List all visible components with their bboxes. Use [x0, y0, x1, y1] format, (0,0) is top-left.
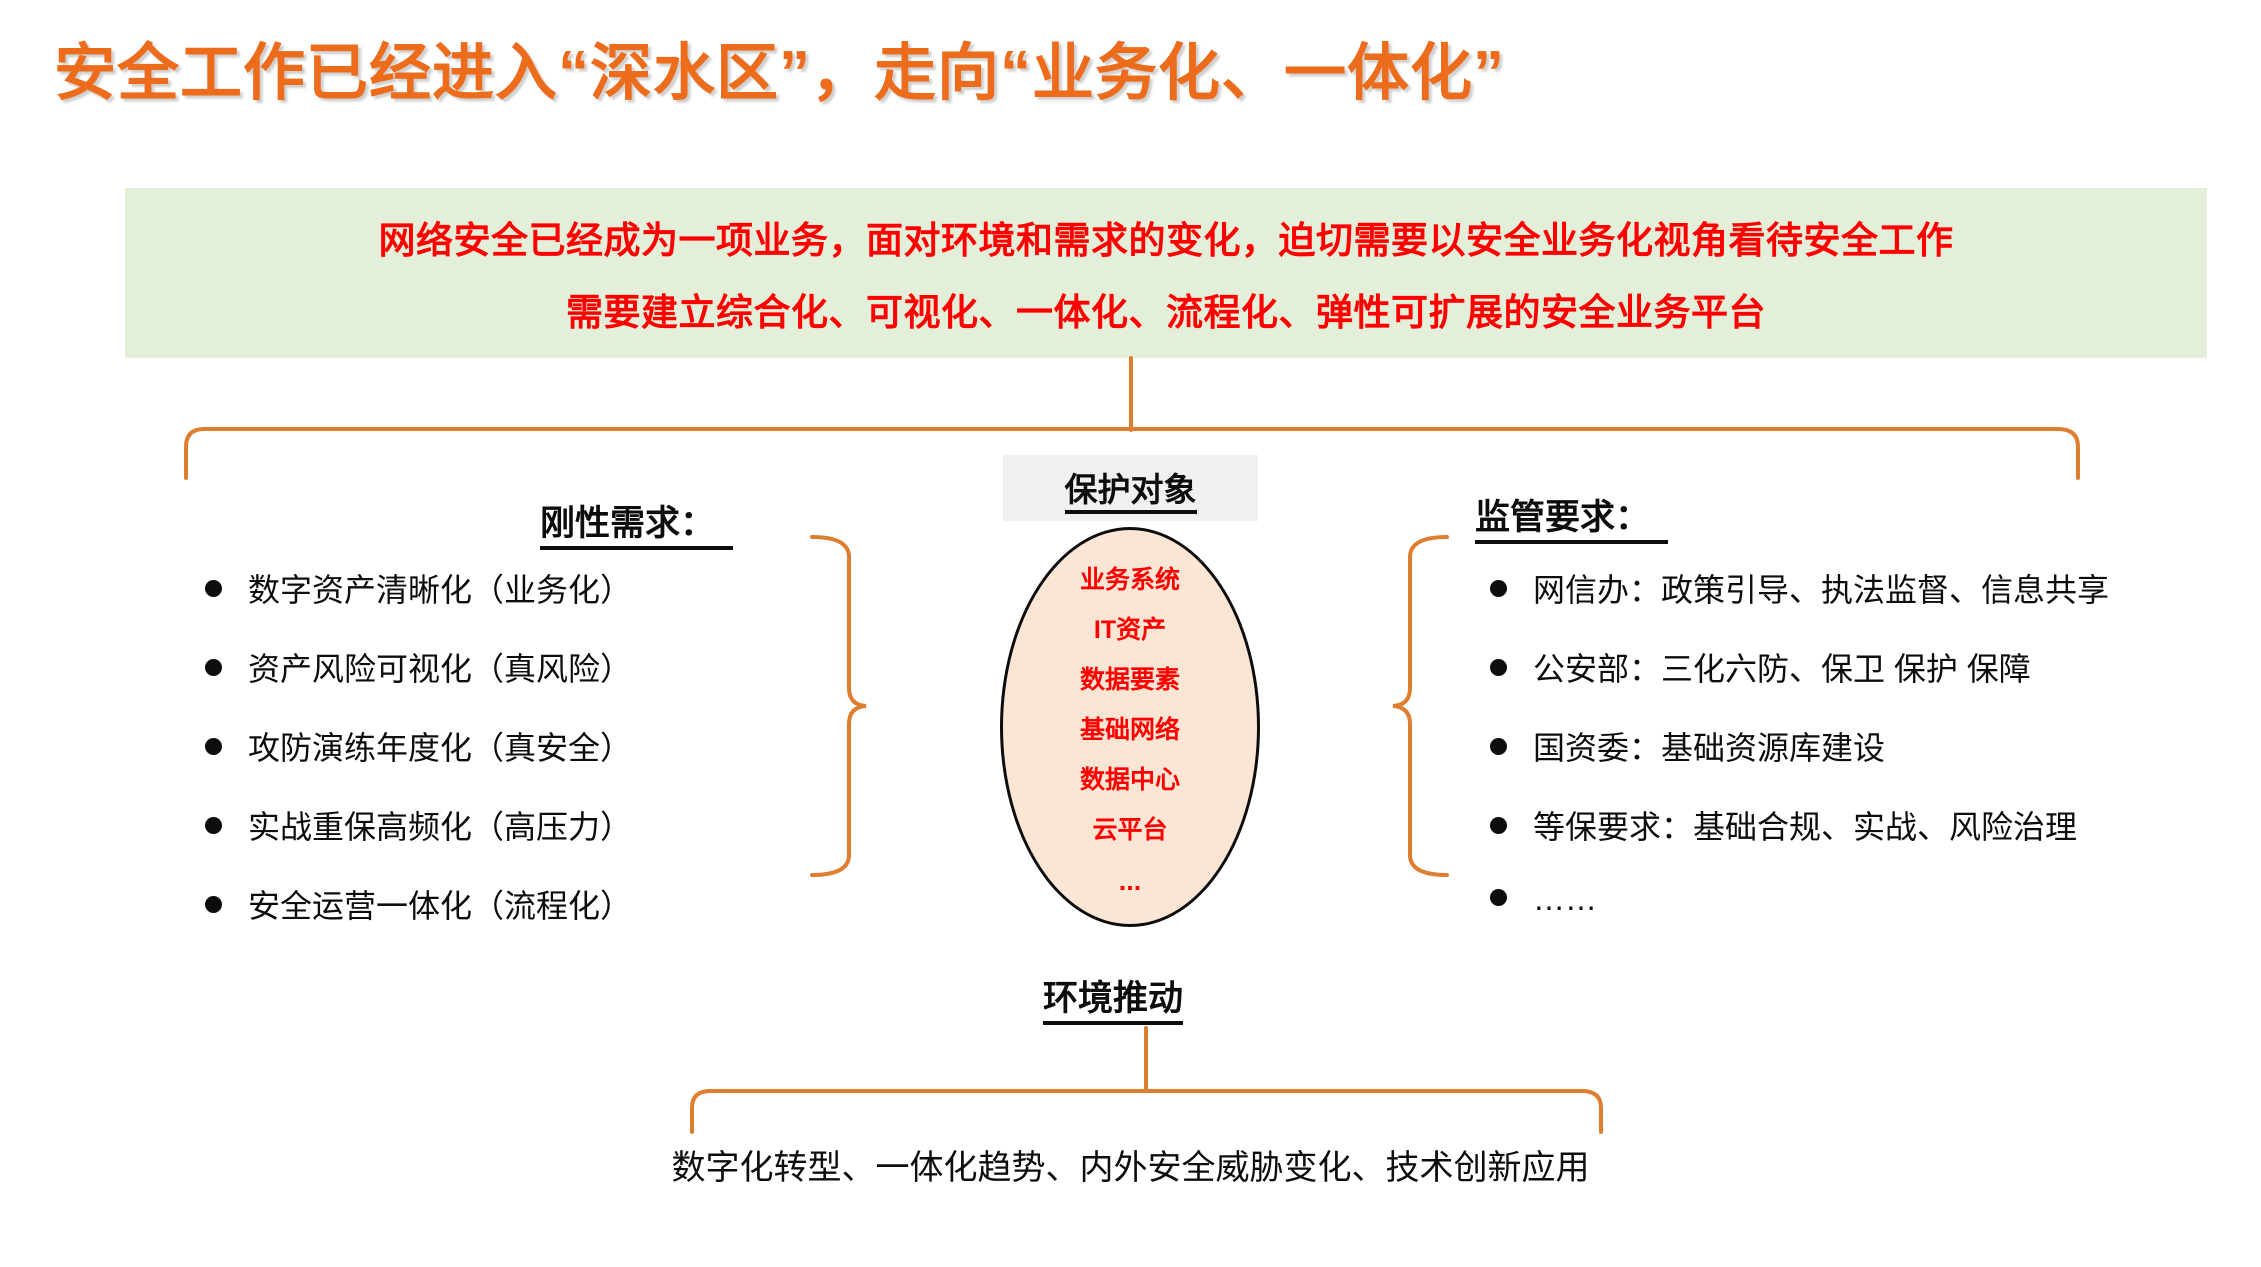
left-column-heading: 刚性需求：: [540, 495, 733, 546]
ellipse-item-ellipsis: ...: [1119, 868, 1142, 895]
bullet-dot-icon: [205, 817, 222, 834]
bullet-dot-icon: [1490, 580, 1507, 597]
bullet-dot-icon: [205, 580, 222, 597]
ellipse-item: IT资产: [1094, 618, 1166, 643]
list-item: 攻防演练年度化（真安全）: [205, 723, 632, 769]
ellipse-item: 数据中心: [1080, 768, 1180, 793]
protect-target-ellipse: 业务系统 IT资产 数据要素 基础网络 数据中心 云平台 ...: [1000, 527, 1260, 927]
list-item: ……: [1490, 881, 2109, 918]
list-item-label: 安全运营一体化（流程化）: [248, 881, 632, 927]
bullet-dot-icon: [205, 659, 222, 676]
list-item: 网信办：政策引导、执法监督、信息共享: [1490, 565, 2109, 611]
list-item-label: 资产风险可视化（真风险）: [248, 644, 632, 690]
protect-target-header: 保护对象: [1003, 455, 1258, 521]
list-item-label: 公安部：三化六防、保卫 保护 保障: [1533, 644, 2031, 690]
bullet-dot-icon: [205, 896, 222, 913]
list-item-label: 等保要求：基础合规、实战、风险治理: [1533, 802, 2077, 848]
right-column-brace: [1393, 537, 1447, 875]
ellipse-item: 数据要素: [1080, 668, 1180, 693]
list-item-label: 实战重保高频化（高压力）: [248, 802, 632, 848]
ellipse-item: 业务系统: [1080, 568, 1180, 593]
bullet-dot-icon: [1490, 659, 1507, 676]
ellipse-item: 基础网络: [1080, 718, 1180, 743]
right-column-heading-text: 监管要求：: [1475, 498, 1668, 544]
list-item: 资产风险可视化（真风险）: [205, 644, 632, 690]
left-column-brace: [812, 537, 866, 875]
protect-target-group: 保护对象: [1003, 455, 1258, 521]
list-item: 公安部：三化六防、保卫 保护 保障: [1490, 644, 2109, 690]
protect-target-header-text: 保护对象: [1065, 471, 1197, 514]
list-item-label: 国资委：基础资源库建设: [1533, 723, 1885, 769]
list-item: 国资委：基础资源库建设: [1490, 723, 2109, 769]
list-item: 安全运营一体化（流程化）: [205, 881, 632, 927]
bullet-dot-icon: [205, 738, 222, 755]
ellipse-item: 云平台: [1092, 818, 1167, 843]
left-column-list: 数字资产清晰化（业务化） 资产风险可视化（真风险） 攻防演练年度化（真安全） 实…: [205, 565, 632, 960]
bottom-brace: [692, 1091, 1601, 1132]
list-item-label: ……: [1533, 881, 1597, 918]
banner-line-2: 需要建立综合化、可视化、一体化、流程化、弹性可扩展的安全业务平台: [566, 282, 1766, 336]
list-item: 等保要求：基础合规、实战、风险治理: [1490, 802, 2109, 848]
summary-banner: 网络安全已经成为一项业务，面对环境和需求的变化，迫切需要以安全业务化视角看待安全…: [125, 188, 2207, 358]
right-column-list: 网信办：政策引导、执法监督、信息共享 公安部：三化六防、保卫 保护 保障 国资委…: [1490, 565, 2109, 951]
bottom-section-heading-text: 环境推动: [1043, 979, 1183, 1025]
banner-line-1: 网络安全已经成为一项业务，面对环境和需求的变化，迫切需要以安全业务化视角看待安全…: [379, 210, 1954, 264]
bullet-dot-icon: [1490, 817, 1507, 834]
list-item-label: 攻防演练年度化（真安全）: [248, 723, 632, 769]
left-column-heading-text: 刚性需求：: [540, 504, 733, 550]
list-item: 数字资产清晰化（业务化）: [205, 565, 632, 611]
list-item: 实战重保高频化（高压力）: [205, 802, 632, 848]
bottom-section-heading: 环境推动: [1043, 970, 1183, 1021]
bottom-section-text: 数字化转型、一体化趋势、内外安全威胁变化、技术创新应用: [0, 1140, 2261, 1189]
right-column-heading: 监管要求：: [1475, 489, 1668, 540]
page-title: 安全工作已经进入“深水区”，走向“业务化、一体化”: [54, 22, 1505, 112]
bullet-dot-icon: [1490, 738, 1507, 755]
list-item-label: 数字资产清晰化（业务化）: [248, 565, 632, 611]
list-item-label: 网信办：政策引导、执法监督、信息共享: [1533, 565, 2109, 611]
bullet-dot-icon: [1490, 889, 1507, 906]
slide-canvas: 安全工作已经进入“深水区”，走向“业务化、一体化” 网络安全已经成为一项业务，面…: [0, 0, 2261, 1267]
